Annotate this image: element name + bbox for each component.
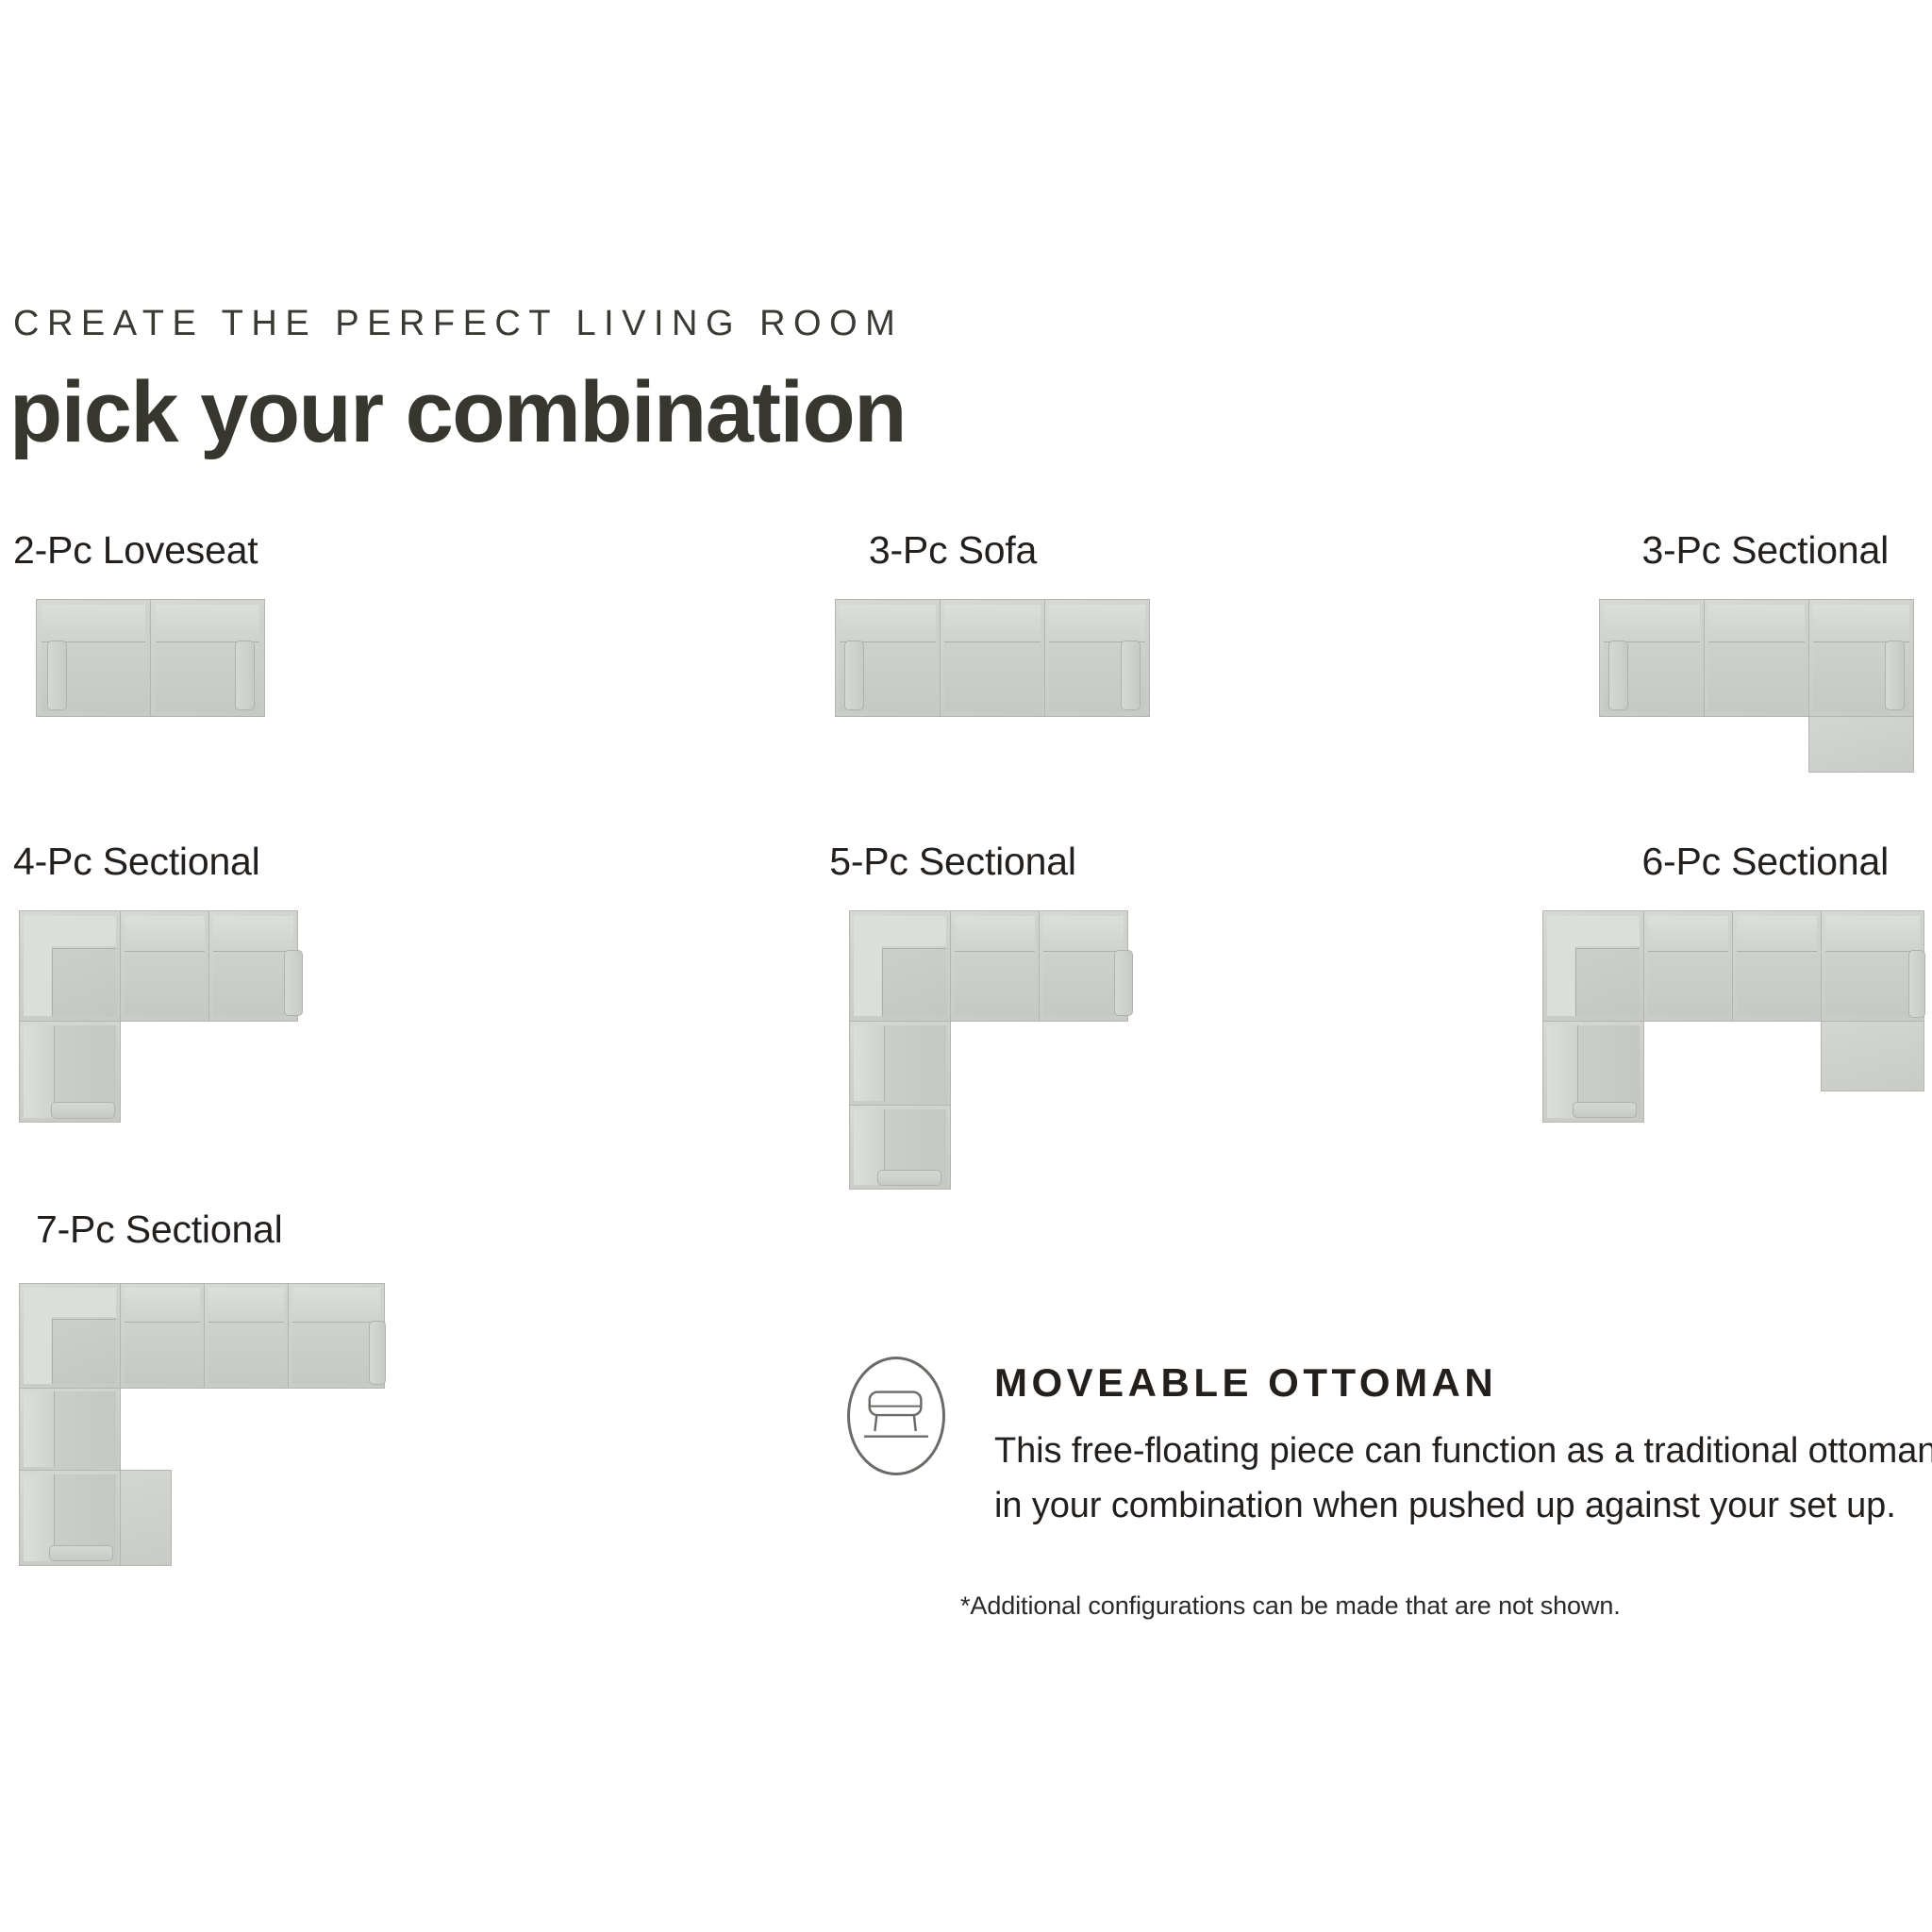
callout-description: This free-floating piece can function as… (994, 1424, 1932, 1534)
sofa-diagram-5pc-sectional (849, 910, 1151, 1193)
armrest (369, 1321, 386, 1385)
sofa-diagram-6pc-sectional (1542, 910, 1929, 1141)
sofa-diagram-2pc-loveseat (36, 599, 262, 717)
eyebrow-text: CREATE THE PERFECT LIVING ROOM (13, 304, 903, 344)
combination-label: 4-Pc Sectional (13, 840, 260, 884)
moveable-ottoman-piece (1821, 1021, 1924, 1091)
combination-card-5pc-sectional[interactable]: 5-Pc Sectional (623, 840, 1283, 1236)
sofa-module (1732, 910, 1822, 1022)
sofa-module (950, 910, 1040, 1022)
armrest (1885, 641, 1905, 710)
moveable-ottoman-callout: MOVEABLE OTTOMAN This free-floating piec… (840, 1340, 1932, 1557)
ottoman-in-circle-icon (847, 1357, 945, 1475)
armrest (47, 641, 67, 710)
combination-label: 6-Pc Sectional (1641, 840, 1889, 884)
sofa-corner-module (1542, 910, 1644, 1022)
page-title: pick your combination (9, 363, 906, 462)
sofa-module (204, 1283, 289, 1389)
combination-card-3pc-sectional[interactable]: 3-Pc Sectional (1226, 528, 1932, 802)
combination-card-3pc-sofa[interactable]: 3-Pc Sofa (623, 528, 1283, 783)
combination-card-2pc-loveseat[interactable]: 2-Pc Loveseat (13, 528, 598, 783)
combination-label: 3-Pc Sofa (869, 528, 1037, 573)
armrest (235, 641, 255, 710)
combination-card-6pc-sectional[interactable]: 6-Pc Sectional (1226, 840, 1932, 1179)
sofa-corner-module (849, 910, 951, 1022)
armrest (49, 1545, 113, 1561)
moveable-ottoman-piece (120, 1470, 172, 1566)
combination-card-4pc-sectional[interactable]: 4-Pc Sectional (13, 840, 598, 1170)
armrest (1908, 950, 1925, 1018)
sofa-module (1704, 599, 1809, 717)
armrest (284, 950, 303, 1016)
sofa-module (120, 1283, 205, 1389)
combination-label: 5-Pc Sectional (829, 840, 1076, 884)
armrest (51, 1102, 115, 1119)
armrest (1608, 641, 1628, 710)
armrest (1114, 950, 1133, 1016)
sofa-diagram-4pc-sectional (19, 910, 321, 1127)
sofa-module (1643, 910, 1733, 1022)
sofa-module (849, 1021, 951, 1106)
sofa-diagram-3pc-sofa (835, 599, 1146, 717)
sofa-module (120, 910, 209, 1022)
sofa-corner-module (19, 910, 121, 1022)
sofa-module (940, 599, 1045, 717)
sofa-diagram-7pc-sectional (19, 1283, 415, 1585)
armrest (1573, 1102, 1637, 1118)
combination-label: 2-Pc Loveseat (13, 528, 258, 573)
callout-title: MOVEABLE OTTOMAN (994, 1360, 1497, 1406)
sofa-module (19, 1388, 121, 1471)
moveable-ottoman-piece (1808, 716, 1914, 773)
infographic-page: CREATE THE PERFECT LIVING ROOM pick your… (0, 0, 1932, 1932)
armrest (1121, 641, 1141, 710)
combination-label: 3-Pc Sectional (1641, 528, 1889, 573)
footnote-text: *Additional configurations can be made t… (960, 1591, 1621, 1621)
armrest (877, 1170, 941, 1186)
armrest (844, 641, 864, 710)
sofa-diagram-3pc-sectional (1599, 599, 1920, 774)
combination-label: 7-Pc Sectional (36, 1207, 283, 1252)
combination-card-7pc-sectional[interactable]: 7-Pc Sectional (13, 1207, 617, 1613)
sofa-corner-module (19, 1283, 121, 1389)
